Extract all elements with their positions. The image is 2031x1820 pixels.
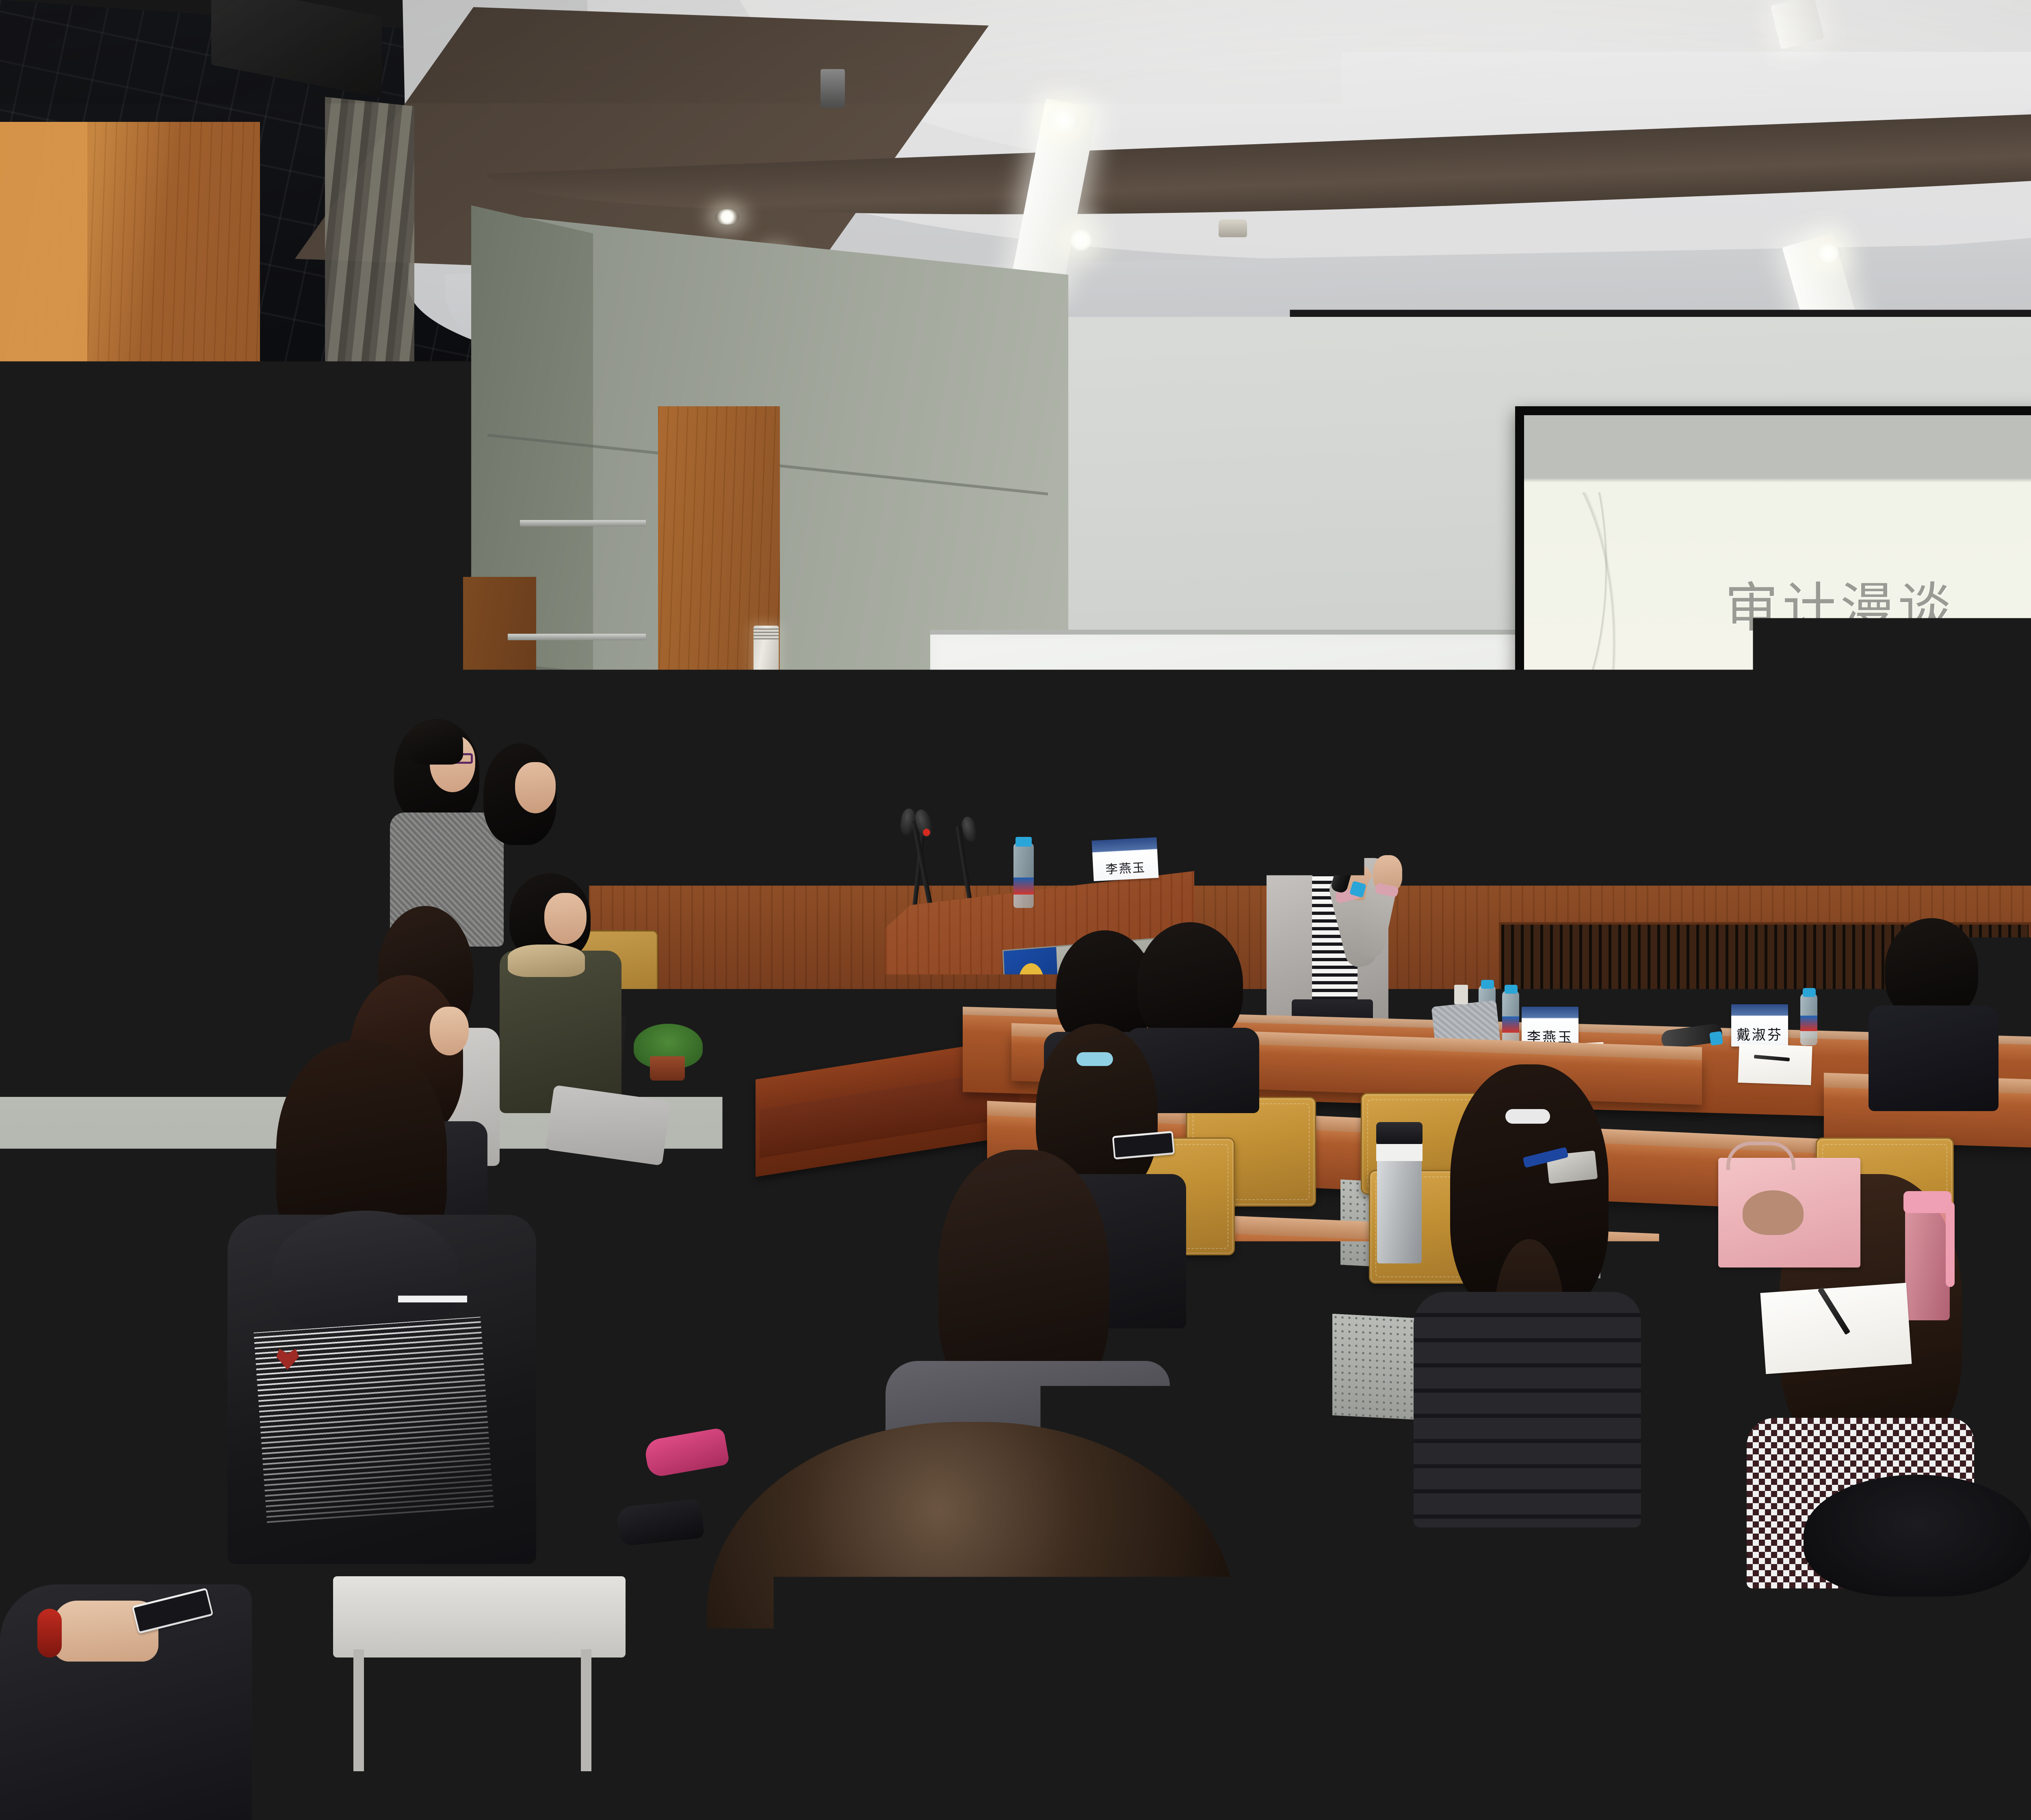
speaker-person [1235, 772, 1405, 1032]
slide-title: 审计漫谈 [1524, 565, 2031, 642]
curtain-left [325, 97, 414, 756]
student-left-6 [227, 1040, 585, 1609]
wall-sconce-left-icon [754, 626, 779, 695]
white-stool [333, 1576, 626, 1657]
podium-bottle-label [1013, 877, 1034, 895]
wall-power-outlet [1454, 985, 1468, 1004]
open-notebook [1760, 1283, 1912, 1374]
ceiling-downlight-1 [715, 209, 739, 225]
front-table-bottle-cap-3 [1803, 988, 1816, 997]
wall-shelf-upper [520, 520, 646, 526]
podium-name-card: 李燕玉 [1091, 837, 1158, 881]
audience-person-3 [1869, 918, 1999, 1109]
podium-bottle-cap [1015, 837, 1032, 847]
projection-screen-surface: 审计漫谈 李燕玉 [1524, 415, 2031, 897]
audience-person-10-puffer [1414, 1292, 1641, 1527]
podium-name-card-text: 李燕玉 [1093, 857, 1158, 878]
pink-water-bottle-strap [1946, 1202, 1955, 1287]
white-stool-leg-2 [581, 1649, 591, 1771]
audience-person-11-fur-collar [1804, 1475, 2031, 1597]
front-table-bottle-label-3 [1800, 1016, 1817, 1031]
stainless-thermos-lid [1376, 1122, 1423, 1146]
wall-shelf-lower [508, 634, 646, 640]
student-left-6-print-graphic [253, 1317, 494, 1523]
smoke-detector [1219, 219, 1247, 237]
slide-decorative-curves [1537, 492, 1688, 868]
audience-person-foreground-shoulder [670, 1747, 1328, 1820]
audience-person-10 [1414, 1064, 1649, 1527]
podium-microphone-indicator [923, 829, 930, 836]
projection-screen: 审计漫谈 李燕玉 [1515, 406, 2031, 906]
student-left-1-hair-front [406, 720, 463, 765]
front-table-bottle-cap-2 [1505, 985, 1518, 994]
front-table-name-card-2: 戴淑芬 [1731, 1004, 1788, 1046]
audience-person-3-suit [1869, 1005, 1999, 1111]
ceiling-bulb-3 [1816, 243, 1841, 264]
pink-water-bottle [1905, 1202, 1950, 1320]
audience-person-10-hairtie [1505, 1109, 1550, 1124]
student-left-6-hood [272, 1211, 459, 1332]
stainless-thermos-band [1376, 1144, 1423, 1161]
ceiling-bulb-2 [1068, 227, 1093, 253]
front-table-bottle-label-2 [1502, 1016, 1519, 1033]
podium-water-bottle [1013, 843, 1034, 908]
slide-presenter-name: 李燕玉 [1970, 757, 2031, 806]
front-table-microphone-cap [1709, 1031, 1723, 1046]
projector-mount [821, 69, 845, 108]
student-left-2 [483, 743, 569, 877]
front-table-name-card-2-text: 戴淑芬 [1731, 1024, 1788, 1044]
student-left-2-face [515, 762, 556, 813]
audience-person-8-hairtie [1076, 1052, 1113, 1066]
pink-bee-handbag-handle [1726, 1142, 1795, 1170]
audience-person-3-hair [1885, 918, 1978, 1020]
front-table-bottle-cap-1 [1481, 980, 1494, 989]
ceiling-bulb-1 [1046, 109, 1079, 132]
pink-water-bottle-cap [1903, 1191, 1951, 1213]
audience-person-foreground [670, 1422, 1328, 1820]
front-table-paper-2 [1738, 1044, 1812, 1085]
lecture-hall-photo: 审计漫谈 李燕玉 管理大视野 ——经管校友讲坛 北科大经管校友官方 德性实践 学… [0, 0, 2031, 1820]
white-stool-leg-1 [353, 1649, 364, 1771]
student-left-7-bracelet [37, 1609, 62, 1657]
pink-bee-handbag-bee-icon [1743, 1190, 1804, 1235]
student-left-3-face [544, 893, 587, 944]
audience-person-9-phone-screen [1114, 1133, 1173, 1157]
